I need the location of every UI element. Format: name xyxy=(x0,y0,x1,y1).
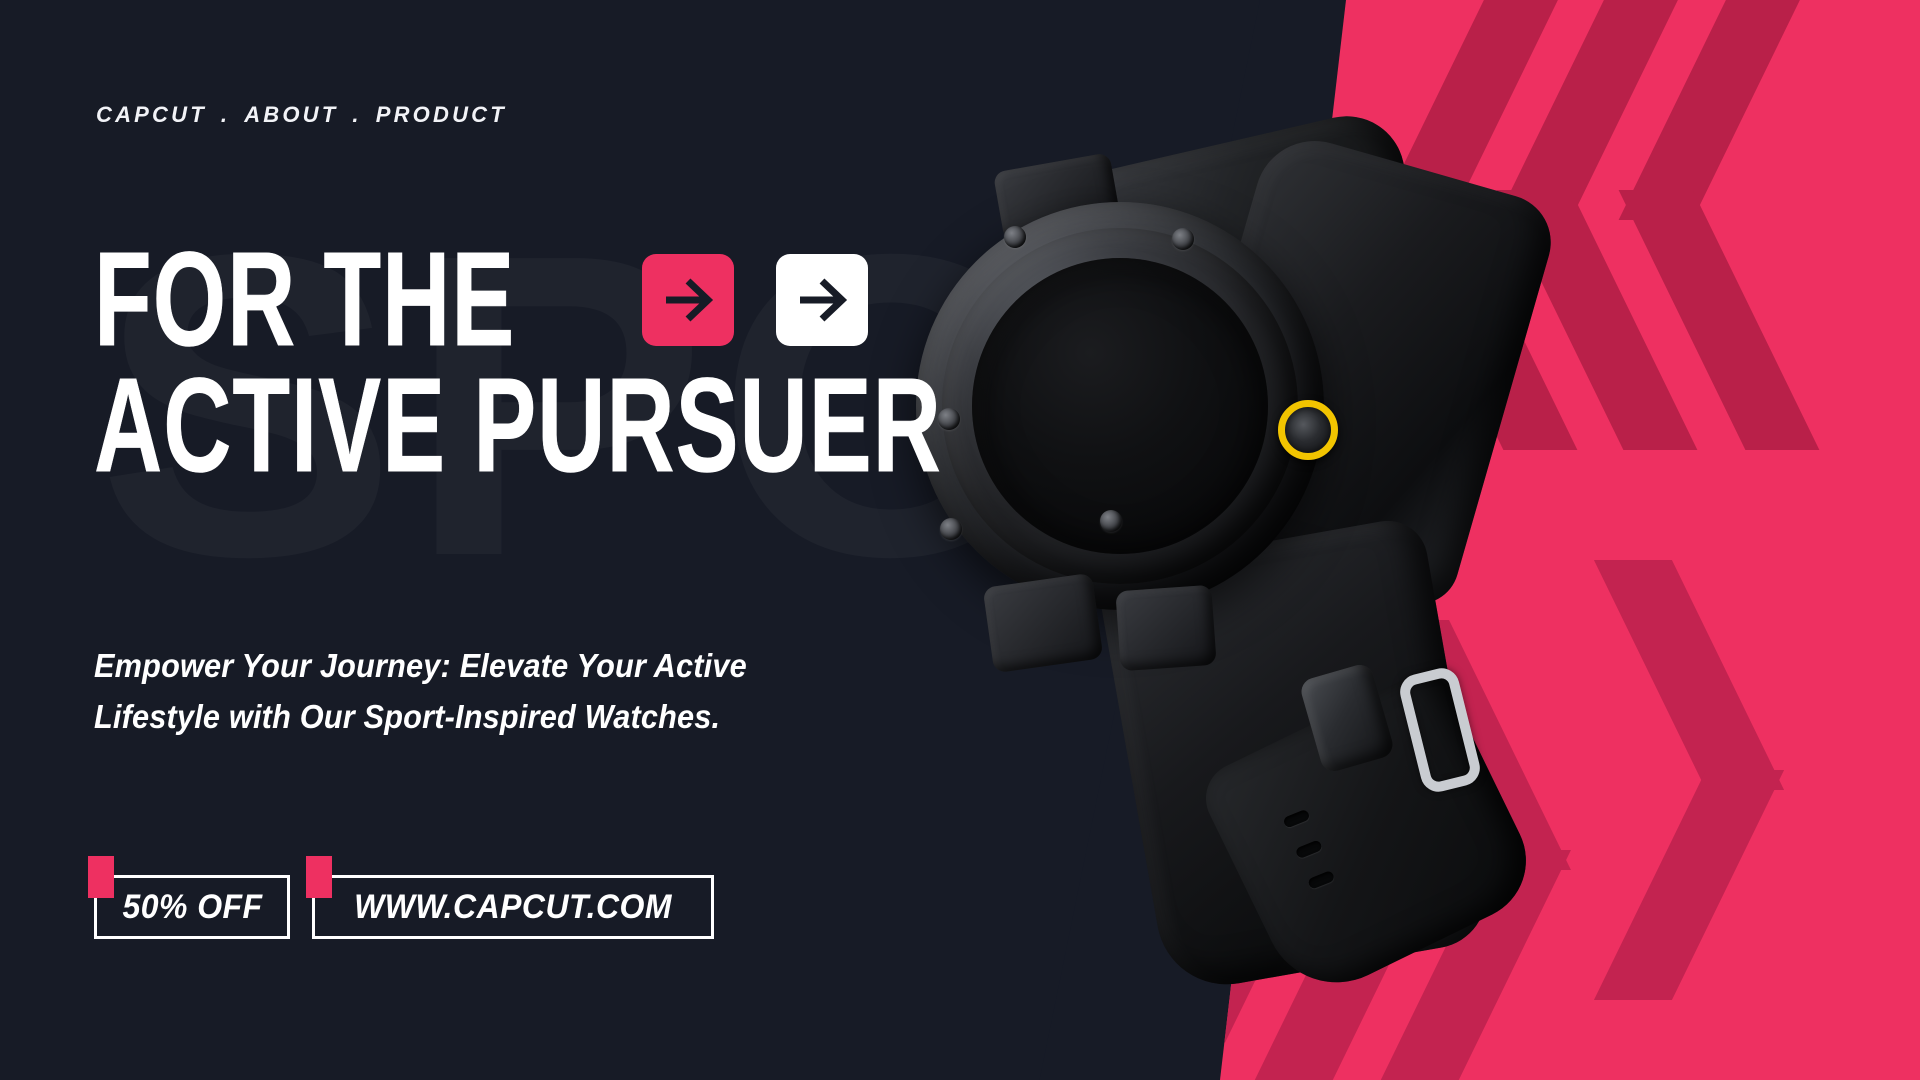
subheadline-paragraph: Empower Your Journey: Elevate Your Activ… xyxy=(94,640,801,742)
watch-dial xyxy=(972,258,1268,554)
watch-lug xyxy=(983,573,1104,673)
website-badge[interactable]: WWW.CAPCUT.COM xyxy=(312,875,714,939)
bezel-screw xyxy=(1004,226,1026,248)
bezel-screw xyxy=(1172,228,1194,250)
headline-row-1: FOR THE xyxy=(94,245,994,355)
watch-crown-button xyxy=(1278,400,1338,460)
arrow-right-button-primary[interactable] xyxy=(642,254,734,346)
nav-item-product[interactable]: PRODUCT xyxy=(376,102,507,128)
promo-banner: SPO CAPCUT . ABOUT . PRODUCT FOR TH xyxy=(0,0,1920,1080)
cta-row: 50% OFF WWW.CAPCUT.COM xyxy=(94,875,714,939)
nav-separator: . xyxy=(338,102,375,128)
corner-accent-square xyxy=(306,856,332,898)
nav-item-about[interactable]: ABOUT xyxy=(244,102,338,128)
nav-separator: . xyxy=(207,102,244,128)
top-navigation: CAPCUT . ABOUT . PRODUCT xyxy=(96,102,507,128)
nav-item-capcut[interactable]: CAPCUT xyxy=(96,102,207,128)
arrow-right-button-secondary[interactable] xyxy=(776,254,868,346)
headline-line-2: ACTIVE PURSUER xyxy=(94,359,868,493)
discount-label: 50% OFF xyxy=(122,888,262,927)
arrow-button-group xyxy=(642,254,868,346)
watch-lug xyxy=(1115,585,1216,672)
product-image-smartwatch xyxy=(880,110,1640,990)
bezel-screw xyxy=(940,518,962,540)
headline-line-1: FOR THE xyxy=(94,233,515,367)
corner-accent-square xyxy=(88,856,114,898)
headline-block: FOR THE ACTIVE PURSUER xyxy=(94,245,994,481)
bezel-screw xyxy=(1100,510,1122,532)
arrow-right-icon xyxy=(794,272,850,328)
discount-badge[interactable]: 50% OFF xyxy=(94,875,290,939)
website-label: WWW.CAPCUT.COM xyxy=(354,888,672,927)
arrow-right-icon xyxy=(660,272,716,328)
